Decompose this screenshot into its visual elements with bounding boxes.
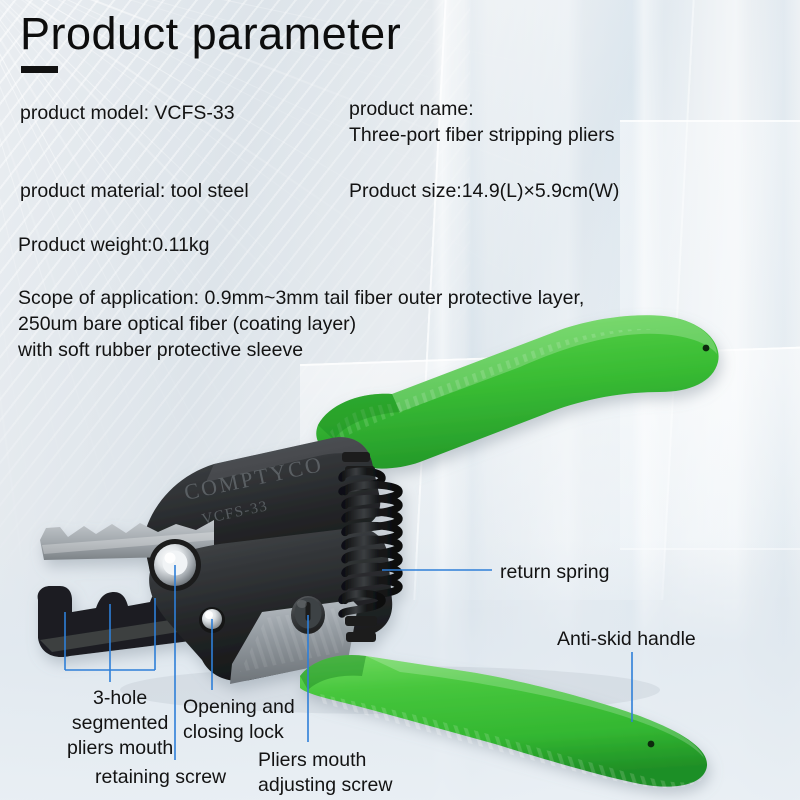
callout-anti-skid-handle: Anti-skid handle [557, 627, 696, 652]
spring-bottom-coil-a [345, 616, 377, 626]
callout-opening-lock-line-2: closing lock [183, 720, 295, 745]
spring-top-mount [342, 452, 370, 462]
callout-pliers-mouth-adjusting-screw: Pliers mouth adjusting screw [258, 748, 392, 798]
callout-three-hole-line-3: pliers mouth [67, 736, 173, 761]
spring-bottom-mount [346, 632, 376, 642]
pivot-screw-glint [165, 553, 176, 564]
callout-adjusting-screw-line-1: Pliers mouth [258, 748, 392, 773]
infographic-canvas: Product parameter product model: VCFS-33… [0, 0, 800, 800]
adjusting-screw-glint [297, 600, 307, 608]
upper-handle-body [316, 315, 718, 468]
upper-anti-skid-handle [316, 315, 718, 468]
callout-opening-lock-line-1: Opening and [183, 695, 295, 720]
upper-handle-hang-hole [703, 345, 710, 352]
callout-opening-closing-lock: Opening and closing lock [183, 695, 295, 745]
lock-knob-glint [205, 611, 213, 619]
lower-handle-hang-hole [648, 741, 655, 748]
callout-return-spring: return spring [500, 560, 609, 585]
callout-retaining-screw: retaining screw [95, 765, 226, 790]
callout-three-hole-line-2: segmented [67, 711, 173, 736]
callout-adjusting-screw-line-2: adjusting screw [258, 773, 392, 798]
callout-three-hole-pliers-mouth: 3-hole segmented pliers mouth [67, 686, 173, 761]
product-illustration-fiber-stripping-pliers: COMPTYCO VCFS-33 [0, 0, 800, 800]
callout-three-hole-line-1: 3-hole [67, 686, 173, 711]
